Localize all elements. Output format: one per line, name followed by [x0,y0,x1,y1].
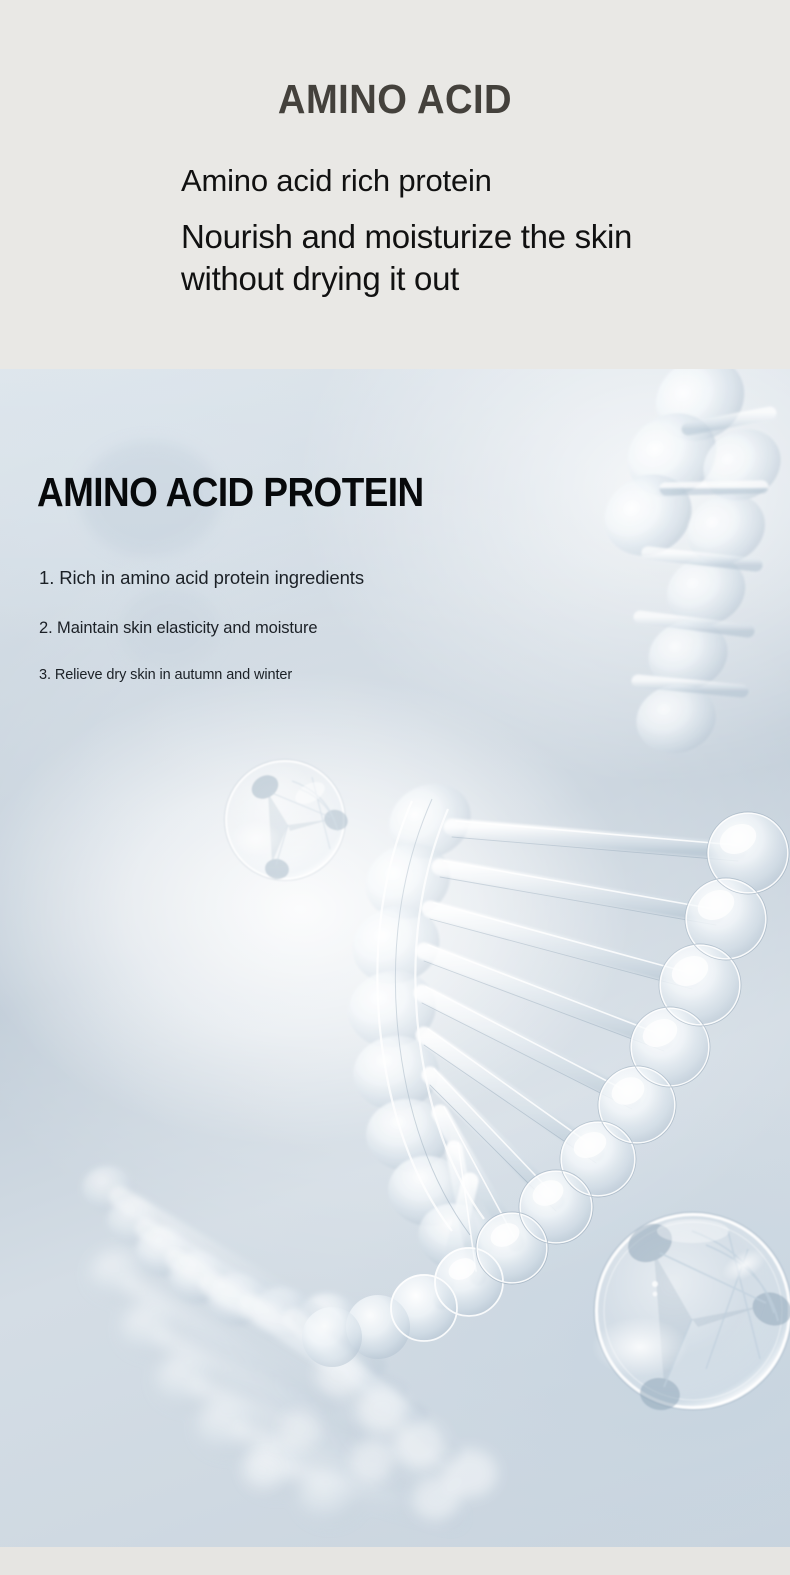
list-item: 2. Maintain skin elasticity and moisture [39,619,519,638]
footer-band [0,1547,790,1575]
list-item: 1. Rich in amino acid protein ingredient… [39,567,519,589]
header-subtitle-line-1: Amino acid rich protein [181,161,701,201]
product-detail-page: AMINO ACID Amino acid rich protein Nouri… [0,0,790,1575]
header-section: AMINO ACID Amino acid rich protein Nouri… [0,0,790,369]
dna-helix-illustration [0,369,790,1547]
hero-heading: AMINO ACID PROTEIN [37,469,424,516]
page-title: AMINO ACID [28,76,763,123]
list-item: 3. Relieve dry skin in autumn and winter [39,667,519,683]
glass-bubble-large [592,1212,790,1413]
benefits-list: 1. Rich in amino acid protein ingredient… [39,567,519,683]
header-subtitle-line-2: Nourish and moisturize the skin without … [181,216,701,300]
glass-bubble-small [225,760,351,881]
dna-upper-strand [590,369,790,762]
hero-image-section: AMINO ACID PROTEIN 1. Rich in amino acid… [0,369,790,1547]
